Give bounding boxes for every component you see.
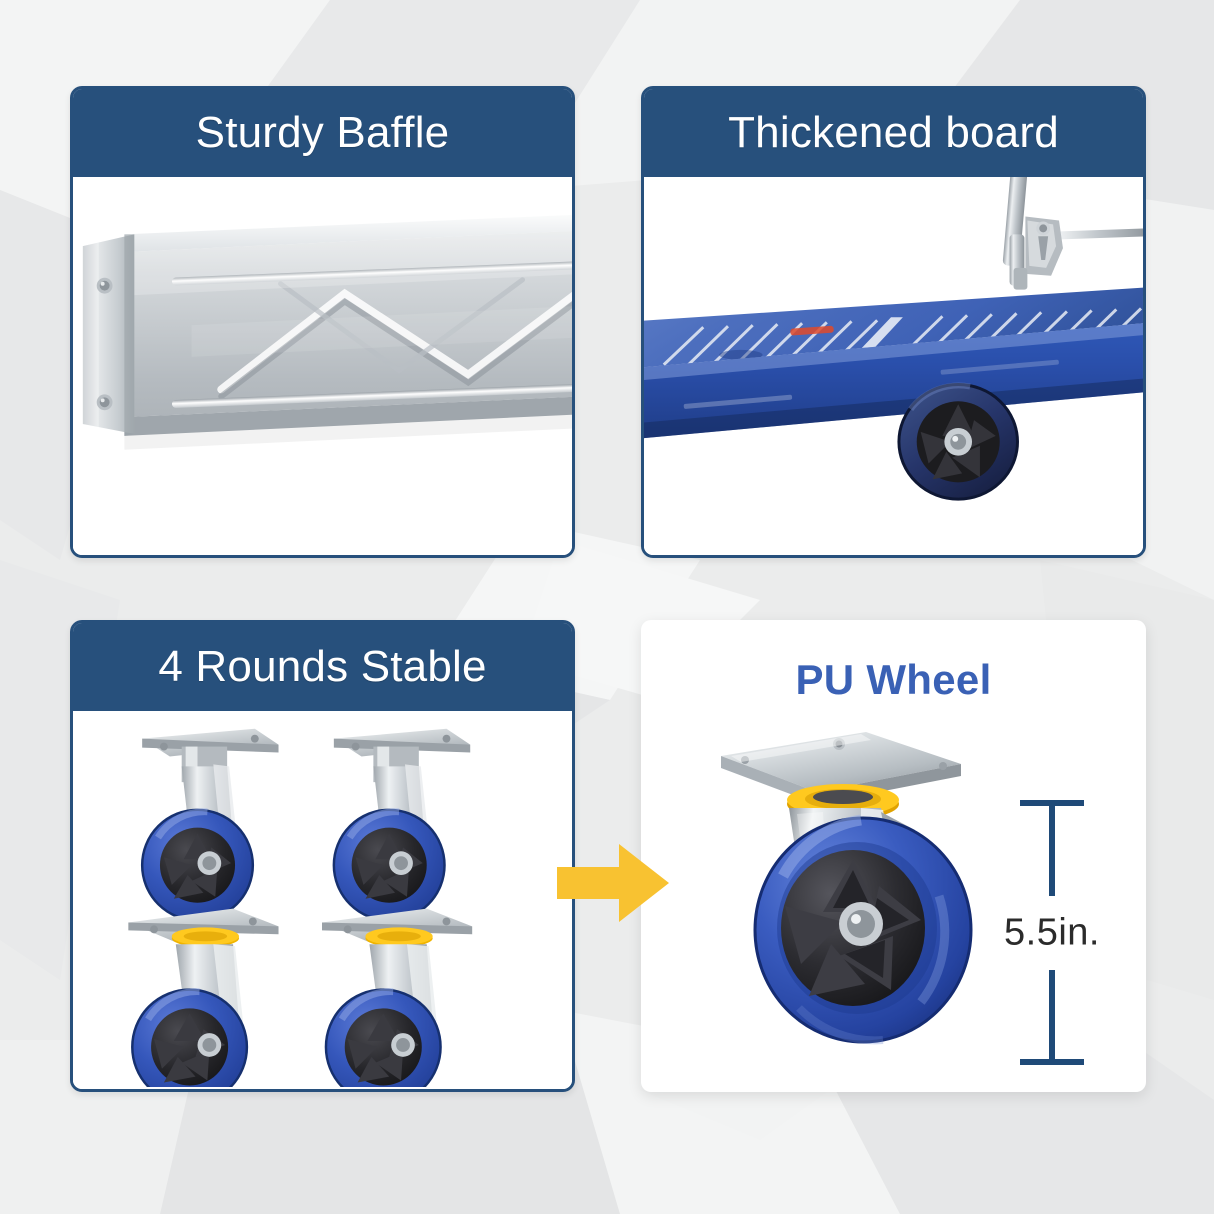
panel-sturdy-baffle: Sturdy Baffle	[70, 86, 575, 558]
pu-wheel-illustration	[671, 708, 1031, 1058]
panel-image-pu-wheel	[671, 708, 1031, 1058]
feature-panel-grid: Sturdy Baffle	[70, 86, 1146, 1098]
bolt-lower	[97, 394, 113, 410]
platform-board-illustration	[644, 177, 1143, 553]
panel-image-four-rounds-stable	[73, 711, 572, 1089]
panel-thickened-board: Thickened board	[641, 86, 1146, 558]
baffle-illustration	[73, 177, 572, 553]
panel-image-thickened-board	[644, 177, 1143, 555]
arrow-shape	[557, 842, 671, 924]
deck-caster-wheel	[899, 385, 1018, 500]
dimension-value: 5.5in.	[992, 912, 1112, 955]
dimension-marker-5-5in: 5.5in.	[992, 798, 1112, 1068]
panel-title-sturdy-baffle: Sturdy Baffle	[73, 89, 572, 177]
panel-title-pu-wheel: PU Wheel	[641, 656, 1146, 704]
panel-title-four-rounds-stable: 4 Rounds Stable	[73, 623, 572, 711]
four-casters-illustration	[73, 711, 572, 1087]
right-arrow-icon	[557, 842, 671, 924]
panel-four-rounds-stable: 4 Rounds Stable	[70, 620, 575, 1092]
pu-wheel	[755, 818, 971, 1042]
panel-image-sturdy-baffle	[73, 177, 572, 555]
panel-title-thickened-board: Thickened board	[644, 89, 1143, 177]
bolt-upper	[97, 278, 113, 294]
panel-pu-wheel: PU Wheel	[641, 620, 1146, 1092]
